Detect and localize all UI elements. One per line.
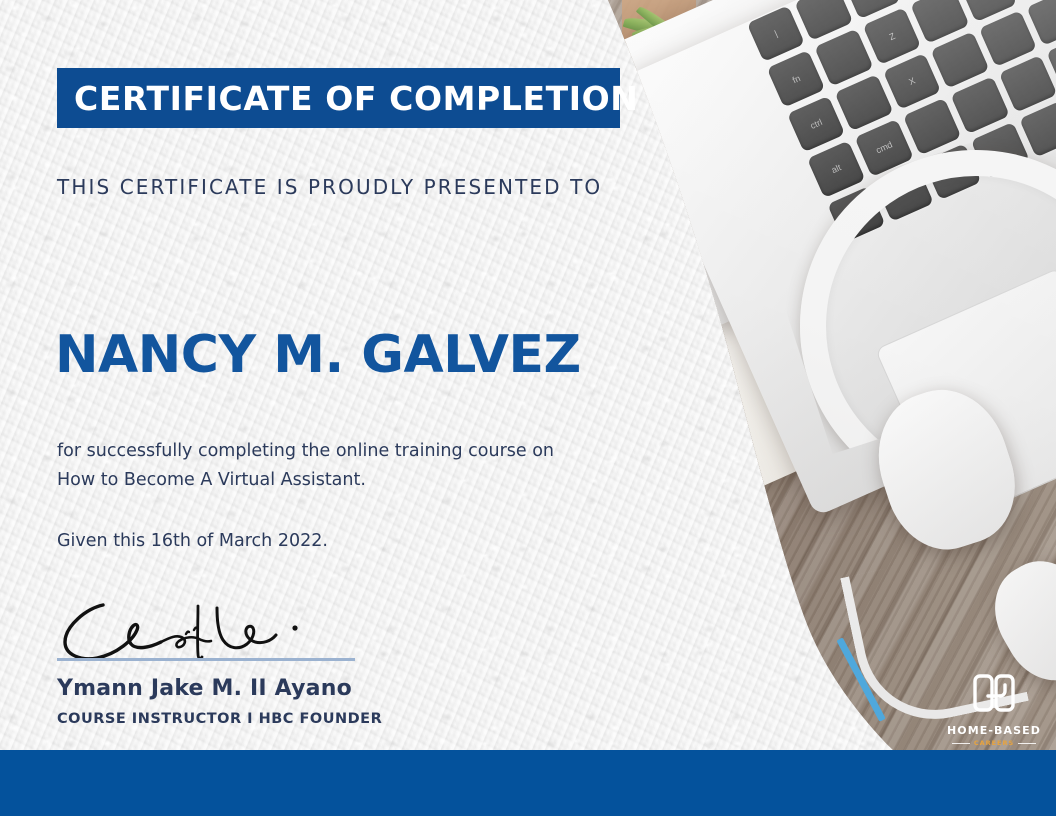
bottom-blue-bar — [0, 750, 1056, 816]
logo-name: HOME-BASED — [944, 724, 1044, 737]
signer-name: Ymann Jake M. II Ayano — [57, 676, 352, 701]
handwritten-signature-icon — [57, 592, 317, 664]
page-title: CERTIFICATE OF COMPLETION — [57, 79, 638, 118]
logo-tagline: CAREERS — [974, 739, 1014, 747]
presented-to-label: THIS CERTIFICATE IS PROUDLY PRESENTED TO — [57, 175, 602, 199]
signature-line — [57, 658, 355, 661]
signer-role: COURSE INSTRUCTOR I HBC FOUNDER — [57, 711, 382, 727]
home-based-h-monogram-icon — [967, 666, 1021, 720]
logo-rule-left — [952, 743, 970, 744]
body-line-2: How to Become A Virtual Assistant. — [57, 466, 577, 495]
logo-rule-right — [1018, 743, 1036, 744]
brand-logo: HOME-BASED CAREERS — [944, 666, 1044, 747]
certificate-body-text: for successfully completing the online t… — [57, 437, 577, 495]
certificate-canvas: | ~ fn Z bl D ctrl X alt cmd — [0, 0, 1056, 816]
body-line-1: for successfully completing the online t… — [57, 437, 577, 466]
logo-tagline-row: CAREERS — [944, 739, 1044, 747]
title-band: CERTIFICATE OF COMPLETION — [57, 68, 620, 128]
recipient-name: NANCY M. GALVEZ — [55, 325, 581, 385]
given-date-text: Given this 16th of March 2022. — [57, 531, 328, 551]
